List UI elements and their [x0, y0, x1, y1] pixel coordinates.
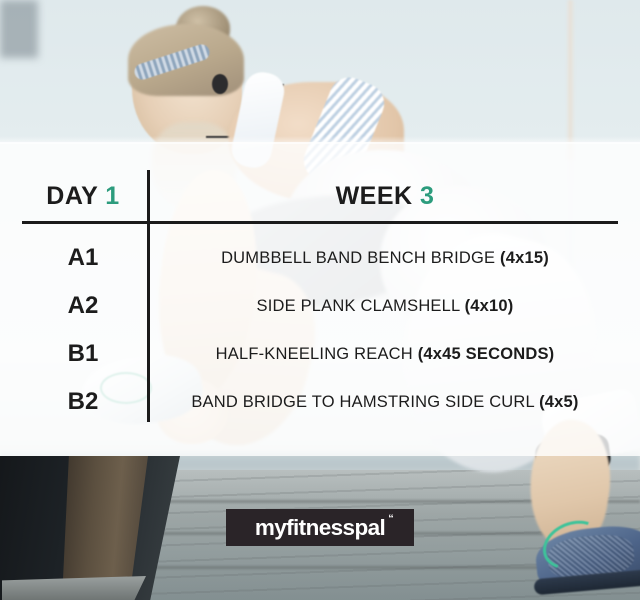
exercise-sets: (4x10) — [465, 297, 514, 315]
day-heading: DAY 1 — [22, 182, 144, 211]
trademark-icon: “ — [388, 513, 393, 525]
exercise-name: BAND BRIDGE TO HAMSTRING SIDE CURL — [191, 393, 534, 411]
exercise-name: DUMBBELL BAND BENCH BRIDGE — [221, 249, 495, 267]
myfitnesspal-logo: myfitnesspal“ — [226, 509, 414, 546]
logo-wordmark: myfitnesspal“ — [255, 515, 385, 541]
exercise-code: A2 — [22, 282, 144, 330]
week-heading: WEEK 3 — [152, 182, 618, 211]
workout-table: DAY 1 WEEK 3 A1 A2 B1 B2 DUMBBELL BAND B… — [0, 142, 640, 456]
exercise-sets: (4x15) — [500, 249, 549, 267]
exercise-name: HALF-KNEELING REACH — [216, 345, 413, 363]
exercise-code: B2 — [22, 378, 144, 426]
distant-post-blur — [0, 0, 38, 58]
table-row: HALF-KNEELING REACH (4x45 SECONDS) — [152, 330, 618, 378]
week-label: WEEK — [336, 182, 413, 210]
exercise-code-column: A1 A2 B1 B2 — [22, 234, 144, 426]
exercise-name-column: DUMBBELL BAND BENCH BRIDGE (4x15) SIDE P… — [152, 234, 618, 426]
day-label: DAY — [46, 182, 98, 210]
workout-poster: DAY 1 WEEK 3 A1 A2 B1 B2 DUMBBELL BAND B… — [0, 0, 640, 600]
horizontal-divider — [22, 221, 618, 224]
exercise-sets: (4x45 SECONDS) — [418, 345, 555, 363]
table-row: SIDE PLANK CLAMSHELL (4x10) — [152, 282, 618, 330]
day-value: 1 — [105, 182, 119, 210]
table-row: DUMBBELL BAND BENCH BRIDGE (4x15) — [152, 234, 618, 282]
exercise-name: SIDE PLANK CLAMSHELL — [256, 297, 459, 315]
exercise-code: A1 — [22, 234, 144, 282]
logo-text: myfitnesspal — [255, 515, 385, 540]
table-row: BAND BRIDGE TO HAMSTRING SIDE CURL (4x5) — [152, 378, 618, 426]
week-value: 3 — [420, 182, 434, 210]
exercise-code: B1 — [22, 330, 144, 378]
vertical-divider — [147, 170, 150, 422]
exercise-sets: (4x5) — [539, 393, 579, 411]
